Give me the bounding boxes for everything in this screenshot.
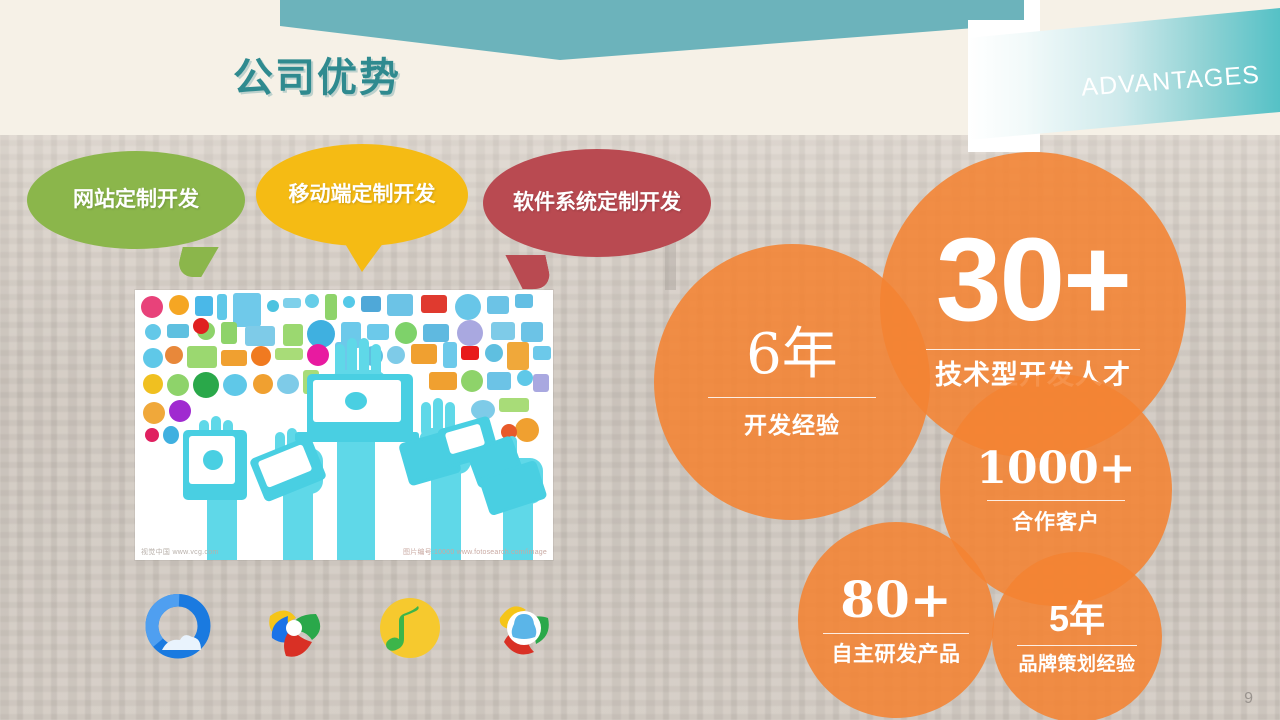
page-number: 9 xyxy=(1244,690,1253,708)
wifi-icon xyxy=(143,348,163,368)
camera-icon xyxy=(421,295,447,313)
qq-browser-penguin-logo[interactable] xyxy=(490,594,558,662)
desktop-icon xyxy=(367,324,389,340)
headphone-icon xyxy=(395,322,417,344)
asterisk-icon xyxy=(193,318,209,334)
recycle-icon xyxy=(167,374,189,396)
wifi-icon xyxy=(345,392,367,410)
stat-label-products: 自主研发产品 xyxy=(832,644,961,665)
dot-icon xyxy=(517,370,533,386)
pinwheel-logo[interactable] xyxy=(260,594,328,662)
stat-number-clients: 1000+ xyxy=(976,447,1135,491)
power-icon xyxy=(143,402,165,424)
technology-illustration: 视觉中国 www.vcg.com 图片编号:10000 www.fotosear… xyxy=(135,290,553,560)
stat-number-talent: 30+ xyxy=(936,221,1130,339)
asterisk-icon xyxy=(169,400,191,422)
app-logos-row xyxy=(138,592,558,666)
stat-circle-products[interactable]: 80+ 自主研发产品 xyxy=(798,522,994,718)
hourglass-icon xyxy=(195,296,213,316)
compass-icon xyxy=(515,418,539,442)
phone-icon xyxy=(443,342,457,368)
usb-icon xyxy=(499,398,529,412)
stat-label-experience: 开发经验 xyxy=(744,414,840,437)
book-icon xyxy=(283,324,303,346)
music-note-icon xyxy=(163,426,179,444)
gear-icon xyxy=(485,344,503,362)
service-bubble-website[interactable]: 网站定制开发 xyxy=(27,151,245,249)
illustration-watermark-right: 图片编号:10000 www.fotosearch.com/image xyxy=(403,547,547,557)
newspaper-icon xyxy=(187,346,217,368)
printer-icon xyxy=(521,322,543,342)
usb-icon xyxy=(275,348,303,360)
call-icon xyxy=(361,296,381,312)
header-subtitle-en: ADVANTAGES xyxy=(964,8,1273,162)
at-sign-icon xyxy=(193,372,219,398)
monitor-icon xyxy=(487,296,509,314)
signal-tower-icon xyxy=(325,294,337,320)
folder-icon xyxy=(515,294,533,308)
headphone-icon xyxy=(223,374,247,396)
stat-number-experience: 6年 xyxy=(746,327,838,383)
dot-icon xyxy=(343,296,355,308)
speech-tail-icon xyxy=(175,247,218,277)
service-bubble-mobile[interactable]: 移动端定制开发 xyxy=(256,144,468,246)
tablet-icon xyxy=(245,326,275,346)
mail-icon xyxy=(221,350,247,366)
stat-label-clients: 合作客户 xyxy=(1012,512,1100,533)
stat-circle-branding[interactable]: 5年 品牌策划经验 xyxy=(992,552,1162,720)
stat-divider xyxy=(708,397,876,398)
search-icon xyxy=(461,370,483,392)
target-icon xyxy=(387,346,405,364)
star-icon xyxy=(165,346,183,364)
qq-browser-logo[interactable] xyxy=(144,594,212,662)
service-bubble-software-label: 软件系统定制开发 xyxy=(513,190,681,216)
remote-icon xyxy=(457,320,483,346)
chat-icon xyxy=(387,294,413,316)
rss-icon xyxy=(145,428,159,442)
tablet-icon xyxy=(233,293,261,327)
hourglass-icon xyxy=(507,342,529,370)
laptop-icon xyxy=(423,324,449,342)
phone-dial-icon xyxy=(143,374,163,394)
user-icon xyxy=(169,295,189,315)
key-icon xyxy=(533,346,551,360)
stat-label-branding: 品牌策划经验 xyxy=(1018,655,1135,674)
umbrella-icon xyxy=(277,374,299,394)
stat-divider xyxy=(987,500,1125,501)
qq-music-logo[interactable] xyxy=(376,594,444,662)
laptop-icon xyxy=(487,372,511,390)
sync-icon xyxy=(251,346,271,366)
lock-icon xyxy=(533,374,549,392)
lock-green-icon xyxy=(221,322,237,344)
stat-divider xyxy=(926,349,1140,350)
lock-icon xyxy=(461,346,479,360)
page-title: 公司优势 xyxy=(233,45,401,103)
mail-icon xyxy=(429,372,457,390)
phone-icon xyxy=(217,294,227,320)
stat-number-branding: 5年 xyxy=(1049,601,1105,637)
speech-tail-icon xyxy=(344,242,384,272)
stat-number-products: 80+ xyxy=(840,575,951,625)
service-bubble-software[interactable]: 软件系统定制开发 xyxy=(483,149,711,257)
wifi-router-icon xyxy=(491,322,515,340)
illustration-watermark-left: 视觉中国 www.vcg.com xyxy=(141,547,219,557)
speech-tail-icon xyxy=(505,255,552,289)
wifi-screen-icon xyxy=(411,344,437,364)
battery-icon xyxy=(283,298,301,308)
globe-icon xyxy=(455,294,481,320)
card-icon xyxy=(167,324,189,338)
header-teal-tab xyxy=(968,0,1024,20)
stat-divider xyxy=(823,633,969,634)
star-icon xyxy=(305,294,319,308)
compass-icon xyxy=(141,296,163,318)
wifi-icon xyxy=(203,450,223,470)
service-bubble-mobile-label: 移动端定制开发 xyxy=(289,182,436,208)
user-icon xyxy=(253,374,273,394)
stat-divider xyxy=(1017,645,1137,646)
dot-icon xyxy=(145,324,161,340)
dot-icon xyxy=(267,300,279,312)
slide-canvas: ADVANTAGES 公司优势 网站定制开发 移动端定制开发 软件系统定制开发 xyxy=(0,0,1280,720)
service-bubble-website-label: 网站定制开发 xyxy=(73,187,199,213)
power-icon xyxy=(307,344,329,366)
